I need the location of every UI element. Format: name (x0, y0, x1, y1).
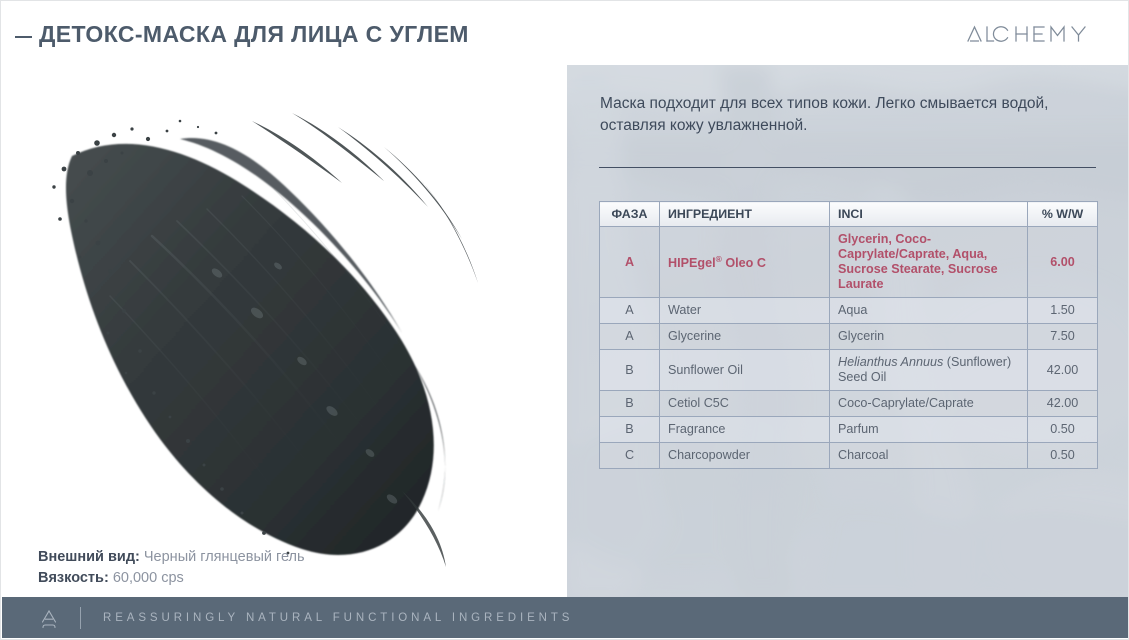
table-row: AWaterAqua1.50 (600, 298, 1098, 324)
panel-description: Маска подходит для всех типов кожи. Легк… (600, 93, 1060, 137)
cell-phase: B (600, 417, 660, 443)
product-caption: Внешний вид: Черный глянцевый гель Вязко… (38, 547, 305, 589)
cell-percent: 7.50 (1028, 324, 1098, 350)
table-row: CCharcopowderCharcoal0.50 (600, 443, 1098, 469)
appearance-line: Внешний вид: Черный глянцевый гель (38, 547, 305, 568)
cell-phase: A (600, 324, 660, 350)
col-header-phase: ФАЗА (600, 202, 660, 227)
alchemy-logo (966, 23, 1098, 49)
page-title: ДЕТОКС-МАСКА ДЛЯ ЛИЦА С УГЛЕМ (39, 21, 469, 48)
cell-inci: Charcoal (830, 443, 1028, 469)
cell-percent: 6.00 (1028, 227, 1098, 298)
footer-divider (80, 607, 81, 629)
cell-percent: 1.50 (1028, 298, 1098, 324)
cell-percent: 42.00 (1028, 350, 1098, 391)
cell-ingredient: Fragrance (660, 417, 830, 443)
viscosity-value: 60,000 cps (113, 570, 184, 586)
footer-bar: REASSURINGLY NATURAL FUNCTIONAL INGREDIE… (2, 597, 1129, 638)
cell-ingredient: Glycerine (660, 324, 830, 350)
table-row: AHIPEgel® Oleo CGlycerin, Coco-Caprylate… (600, 227, 1098, 298)
cell-inci: Parfum (830, 417, 1028, 443)
cell-inci: Aqua (830, 298, 1028, 324)
viscosity-label: Вязкость: (38, 570, 109, 586)
cell-inci: Coco-Caprylate/Caprate (830, 391, 1028, 417)
cell-inci: Glycerin (830, 324, 1028, 350)
cell-percent: 0.50 (1028, 417, 1098, 443)
product-photo (2, 61, 568, 599)
col-header-inci: INCI (830, 202, 1028, 227)
cell-ingredient: HIPEgel® Oleo C (660, 227, 830, 298)
col-header-pct: % W/W (1028, 202, 1098, 227)
cell-ingredient: Water (660, 298, 830, 324)
footer-tagline: REASSURINGLY NATURAL FUNCTIONAL INGREDIE… (103, 612, 573, 624)
cell-percent: 42.00 (1028, 391, 1098, 417)
cell-inci: Helianthus Annuus (Sunflower) Seed Oil (830, 350, 1028, 391)
table-row: BFragranceParfum0.50 (600, 417, 1098, 443)
cell-ingredient: Sunflower Oil (660, 350, 830, 391)
table-header: ФАЗА ИНГРЕДИЕНТ INCI % W/W (600, 202, 1098, 227)
formulation-table: ФАЗА ИНГРЕДИЕНТ INCI % W/W AHIPEgel® Ole… (599, 201, 1098, 469)
slide: ДЕТОКС-МАСКА ДЛЯ ЛИЦА С УГЛЕМ (0, 0, 1129, 640)
table-row: AGlycerineGlycerin7.50 (600, 324, 1098, 350)
table-header-row: ФАЗА ИНГРЕДИЕНТ INCI % W/W (600, 202, 1098, 227)
cell-phase: B (600, 391, 660, 417)
appearance-value: Черный глянцевый гель (144, 549, 305, 565)
cell-inci: Glycerin, Coco-Caprylate/Caprate, Aqua, … (830, 227, 1028, 298)
panel-divider (599, 167, 1096, 168)
cell-percent: 0.50 (1028, 443, 1098, 469)
cell-ingredient: Cetiol C5C (660, 391, 830, 417)
cell-ingredient: Charcopowder (660, 443, 830, 469)
cell-phase: A (600, 227, 660, 298)
latin-name: Helianthus Annuus (838, 355, 943, 369)
title-dash-decoration (15, 36, 32, 38)
cell-phase: C (600, 443, 660, 469)
alchemy-a-mark-icon (36, 605, 62, 631)
cell-phase: A (600, 298, 660, 324)
slide-header: ДЕТОКС-МАСКА ДЛЯ ЛИЦА С УГЛЕМ (1, 1, 1129, 61)
viscosity-line: Вязкость: 60,000 cps (38, 568, 305, 589)
table-row: BCetiol C5CCoco-Caprylate/Caprate42.00 (600, 391, 1098, 417)
appearance-label: Внешний вид: (38, 549, 140, 565)
table-body: AHIPEgel® Oleo CGlycerin, Coco-Caprylate… (600, 227, 1098, 469)
info-panel: Маска подходит для всех типов кожи. Легк… (567, 65, 1129, 599)
col-header-ingredient: ИНГРЕДИЕНТ (660, 202, 830, 227)
cell-phase: B (600, 350, 660, 391)
table-row: BSunflower OilHelianthus Annuus (Sunflow… (600, 350, 1098, 391)
